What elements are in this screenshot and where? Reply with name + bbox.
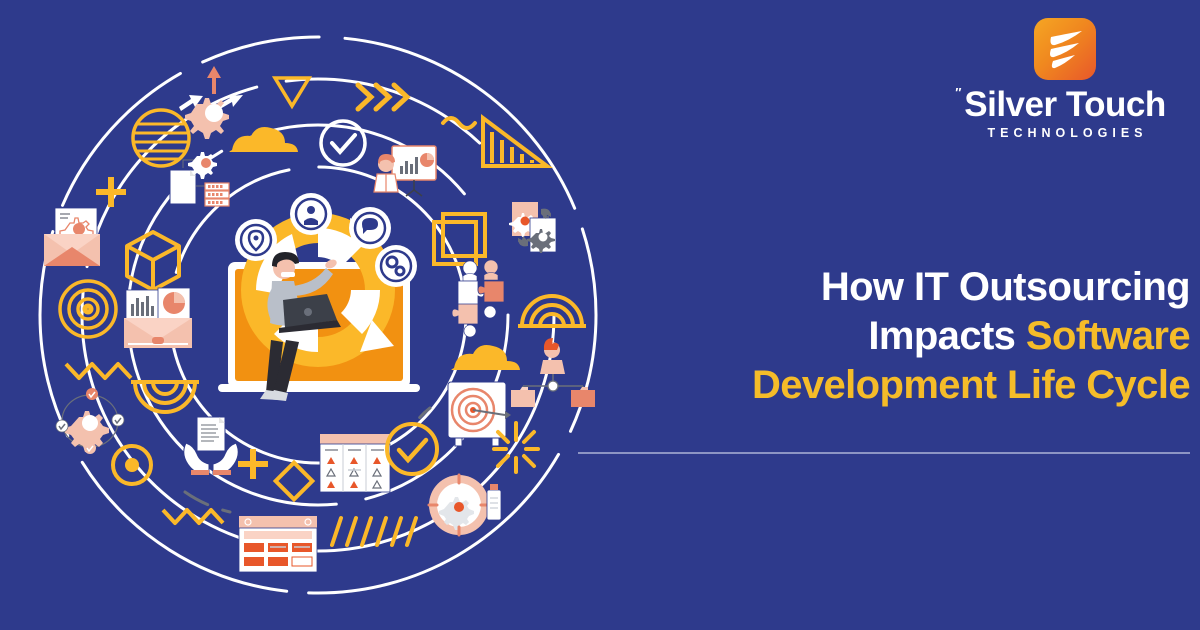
- hatch-stripes-icon: [332, 518, 416, 545]
- brand-name: ″Silver Touch: [964, 87, 1165, 122]
- envelope-gear-document-icon: [44, 208, 100, 266]
- silver-touch-swoosh-logo-icon: [1034, 18, 1096, 80]
- headline-line-3: Development Life Cycle: [530, 361, 1190, 410]
- check-circle-yellow-icon: [387, 424, 437, 474]
- chevrons-right-icon: [358, 85, 407, 109]
- brand-logo[interactable]: ″Silver Touch TECHNOLOGIES: [940, 18, 1190, 140]
- kanban-board-icon: [320, 434, 390, 492]
- badge-location-pin-icon: [235, 219, 277, 261]
- gear-exchange-cards-icon: [509, 202, 556, 253]
- zigzag-line-icon: [66, 364, 131, 378]
- brand-tagline: TECHNOLOGIES: [982, 126, 1147, 140]
- center-laptop-group: [218, 193, 420, 401]
- headline-line-2-text: Impacts: [868, 314, 1026, 358]
- double-square-outline-icon: [434, 214, 485, 264]
- cloud-icon: [229, 127, 298, 152]
- stopwatch-gear-icon: [429, 475, 501, 535]
- badge-user-icon: [290, 193, 332, 235]
- headline-line-1: How IT Outsourcing: [530, 263, 1190, 312]
- triangle-outline-icon: [275, 78, 309, 106]
- headline-line-2: Impacts Software: [530, 312, 1190, 361]
- presentation-chart-person-icon: [374, 146, 436, 196]
- trademark-icon: ″: [955, 86, 961, 99]
- gear-orbit-checks-icon: [56, 388, 124, 454]
- brand-name-text: Silver Touch: [964, 85, 1165, 124]
- headline-line-1-text: How IT Outsourcing: [821, 265, 1190, 309]
- badge-gears-icon: [375, 245, 417, 287]
- badge-chat-icon: [349, 207, 391, 249]
- hands-holding-document-icon: [184, 417, 239, 475]
- headline-line-3-highlight: Development Life Cycle: [752, 363, 1190, 407]
- browser-window-icon: [239, 516, 317, 572]
- page-title: How IT Outsourcing Impacts Software Deve…: [530, 263, 1190, 409]
- headline-line-2-highlight: Software: [1026, 314, 1190, 358]
- envelope-charts-icon: [124, 288, 192, 348]
- concentric-target-icon: [60, 281, 116, 337]
- dot-circle-icon: [113, 446, 151, 484]
- social-share-banner: ″Silver Touch TECHNOLOGIES How IT Outsou…: [0, 0, 1200, 630]
- title-divider: [578, 452, 1190, 454]
- diamond-outline-icon: [276, 463, 313, 500]
- zigzag-line-icon-2: [163, 510, 223, 523]
